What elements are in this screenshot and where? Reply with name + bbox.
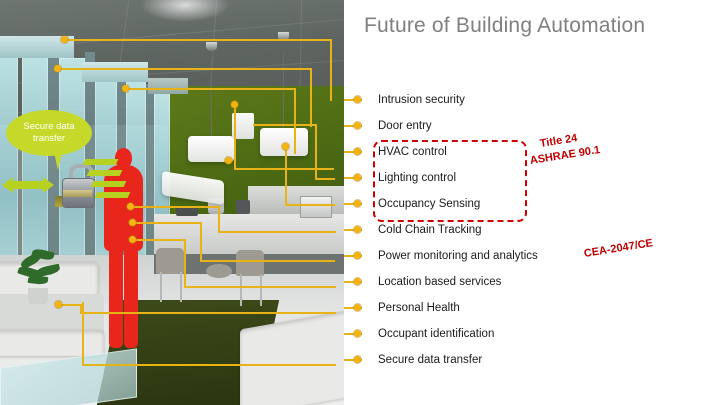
bullet-dot-5 <box>354 226 361 233</box>
connector-line <box>184 286 336 288</box>
bullet-dot-3 <box>354 174 361 181</box>
figure-leg <box>124 244 138 348</box>
feature-item-9[interactable]: Occupant identification <box>378 328 494 340</box>
connector-line <box>200 260 335 262</box>
connector-line <box>310 68 312 127</box>
signal-bolt-icon <box>83 159 119 165</box>
person-silhouette <box>101 148 145 348</box>
bullet-dot-4 <box>354 200 361 207</box>
bullet-dot-0 <box>354 96 361 103</box>
connector-line <box>234 104 236 168</box>
signal-bolt-icon <box>95 192 131 198</box>
connector-line <box>315 124 317 178</box>
sensor-node-dot <box>127 203 134 210</box>
signal-bolt-icon <box>87 170 123 176</box>
sensor-node-dot <box>231 101 238 108</box>
connector-line <box>57 68 311 70</box>
sensor-node-dot <box>129 219 136 226</box>
dining-chair <box>236 250 264 276</box>
figure-leg <box>109 244 123 348</box>
feature-item-4[interactable]: Occupancy Sensing <box>378 198 480 210</box>
standard-tag-cea2047: CEA-2047/CE <box>583 237 654 260</box>
plant-leaf <box>28 275 49 285</box>
kitchen-counter <box>154 214 344 254</box>
appliance <box>236 200 250 214</box>
connector-line <box>330 39 332 101</box>
sensor-node-dot <box>122 85 129 92</box>
soffit <box>82 62 148 82</box>
soffit <box>148 78 188 94</box>
connector-line <box>82 302 84 364</box>
connector-line <box>253 124 315 126</box>
chair-leg <box>240 274 242 306</box>
sensor-node-dot <box>61 36 68 43</box>
chair-leg <box>180 272 182 302</box>
sensor-node-dot <box>55 301 62 308</box>
secure-data-bubble: Secure data transfer <box>6 110 92 156</box>
connector-line <box>64 39 332 41</box>
sensor-node-dot <box>54 65 61 72</box>
connector-line <box>132 222 200 224</box>
feature-item-2[interactable]: HVAC control <box>378 146 447 158</box>
sensor-node-dot <box>282 143 289 150</box>
oven <box>300 196 332 218</box>
chair-leg <box>260 274 262 306</box>
bullet-dot-8 <box>354 304 361 311</box>
feature-item-6[interactable]: Power monitoring and analytics <box>378 250 538 262</box>
connector-line <box>285 146 287 204</box>
feature-item-5[interactable]: Cold Chain Tracking <box>378 224 482 236</box>
feature-item-7[interactable]: Location based services <box>378 276 501 288</box>
bullet-dot-1 <box>354 122 361 129</box>
bullet-dot-10 <box>354 356 361 363</box>
bullet-dot-2 <box>354 148 361 155</box>
connector-line <box>315 178 335 180</box>
connector-line <box>285 204 335 206</box>
pendant-cord <box>283 52 284 130</box>
connector-line <box>130 206 218 208</box>
sofa-base <box>0 330 104 356</box>
connector-line <box>294 88 296 154</box>
dining-stool <box>206 264 232 278</box>
sofa-seat <box>0 294 104 334</box>
potted-plant <box>18 248 64 292</box>
ceiling-sensor-icon <box>206 42 217 51</box>
chair-leg <box>160 272 162 302</box>
page-title: Future of Building Automation <box>364 14 645 38</box>
connector-line <box>184 239 186 286</box>
connector-line <box>218 231 336 233</box>
feature-item-0[interactable]: Intrusion security <box>378 94 465 106</box>
pendant-cord <box>211 60 212 138</box>
connector-line <box>132 239 184 241</box>
bullet-dot-7 <box>354 278 361 285</box>
building-interior-photo: Secure data transfer <box>0 0 344 405</box>
connector-line <box>234 168 334 170</box>
feature-item-8[interactable]: Personal Health <box>378 302 460 314</box>
bullet-dot-9 <box>354 330 361 337</box>
content-panel: Future of Building Automation Intrusion … <box>344 0 720 405</box>
secure-data-bubble-label: Secure data transfer <box>9 121 89 145</box>
sensor-node-dot <box>225 157 232 164</box>
padlock-icon-band <box>63 190 92 197</box>
plant-pot <box>28 288 48 304</box>
feature-item-1[interactable]: Door entry <box>378 120 432 132</box>
double-arrow-icon <box>2 176 54 194</box>
dining-chair <box>156 248 184 274</box>
pendant-lamp <box>260 128 308 156</box>
feature-item-10[interactable]: Secure data transfer <box>378 354 482 366</box>
connector-line <box>125 88 295 90</box>
connector-line <box>80 312 336 314</box>
feature-item-3[interactable]: Lighting control <box>378 172 456 184</box>
sensor-node-dot <box>129 236 136 243</box>
connector-line <box>218 206 220 231</box>
bullet-dot-6 <box>354 252 361 259</box>
connector-line <box>200 222 202 260</box>
connector-line <box>82 364 336 366</box>
signal-bolt-icon <box>91 181 127 187</box>
slide-canvas: Secure data transfer Future of Building … <box>0 0 720 405</box>
